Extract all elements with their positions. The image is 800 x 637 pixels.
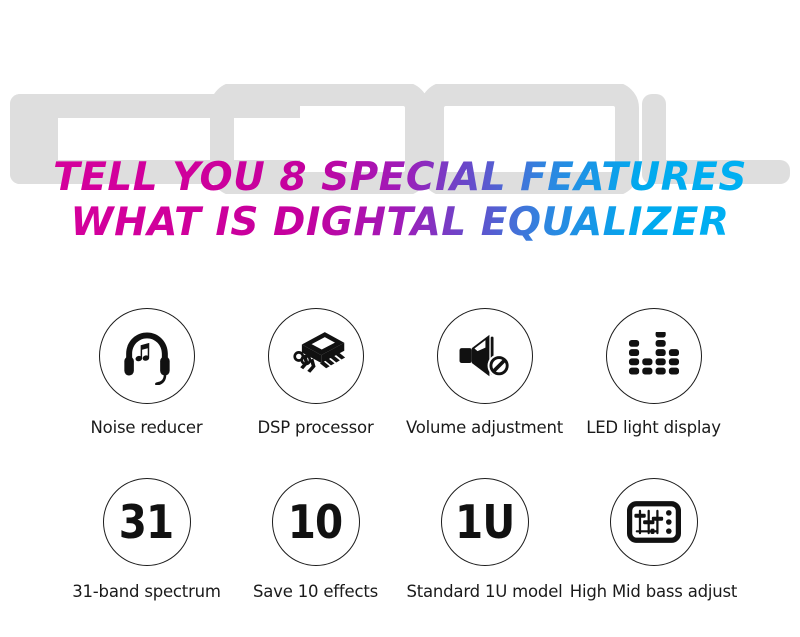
feature-label: Noise reducer bbox=[91, 418, 203, 437]
feature-icon-circle bbox=[437, 308, 533, 404]
dsp-chip-icon bbox=[286, 328, 346, 384]
mixer-sliders-icon bbox=[627, 501, 681, 543]
feature-label: Save 10 effects bbox=[253, 582, 378, 601]
feature-label: 31-band spectrum bbox=[72, 582, 221, 601]
number-31-icon: 31 bbox=[119, 499, 174, 545]
feature-label: LED light display bbox=[586, 418, 721, 437]
feature-icon-circle bbox=[606, 308, 702, 404]
feature-noise-reducer[interactable]: Noise reducer bbox=[62, 308, 231, 437]
headphones-music-icon bbox=[118, 327, 176, 385]
feature-icon-circle bbox=[610, 478, 698, 566]
feature-row-1: Noise reducer bbox=[0, 308, 800, 437]
feature-label: High Mid bass adjust bbox=[570, 582, 737, 601]
feature-grid: Noise reducer bbox=[0, 308, 800, 601]
feature-save-10-effects[interactable]: 10 Save 10 effects bbox=[231, 478, 400, 601]
feature-volume-adjustment[interactable]: Volume adjustment bbox=[400, 308, 569, 437]
headline-line-2: WHAT IS DIGHTAL EQUALIZER bbox=[0, 203, 800, 242]
feature-icon-circle: 31 bbox=[103, 478, 191, 566]
feature-label: DSP processor bbox=[257, 418, 373, 437]
feature-row-2: 31 31-band spectrum 10 Save 10 effects 1… bbox=[0, 478, 800, 601]
feature-icon-circle bbox=[268, 308, 364, 404]
feature-31-band-spectrum[interactable]: 31 31-band spectrum bbox=[62, 478, 231, 601]
headline-line-1: TELL YOU 8 SPECIAL FEATURES bbox=[0, 158, 800, 197]
led-equalizer-dots-icon bbox=[626, 332, 682, 380]
feature-standard-1u-model[interactable]: 1U Standard 1U model bbox=[400, 478, 569, 601]
feature-dsp-processor[interactable]: DSP processor bbox=[231, 308, 400, 437]
feature-high-mid-bass-adjust[interactable]: High Mid bass adjust bbox=[569, 478, 738, 601]
feature-icon-circle: 1U bbox=[441, 478, 529, 566]
feature-icon-circle: 10 bbox=[272, 478, 360, 566]
feature-led-light-display[interactable]: LED light display bbox=[569, 308, 738, 437]
poster-canvas: TELL YOU 8 SPECIAL FEATURES WHAT IS DIGH… bbox=[0, 0, 800, 637]
number-10-icon: 10 bbox=[288, 499, 343, 545]
number-1u-icon: 1U bbox=[455, 499, 514, 545]
speaker-mute-icon bbox=[456, 331, 514, 381]
feature-icon-circle bbox=[99, 308, 195, 404]
feature-label: Volume adjustment bbox=[406, 418, 563, 437]
feature-label: Standard 1U model bbox=[406, 582, 562, 601]
headline: TELL YOU 8 SPECIAL FEATURES WHAT IS DIGH… bbox=[0, 158, 800, 242]
